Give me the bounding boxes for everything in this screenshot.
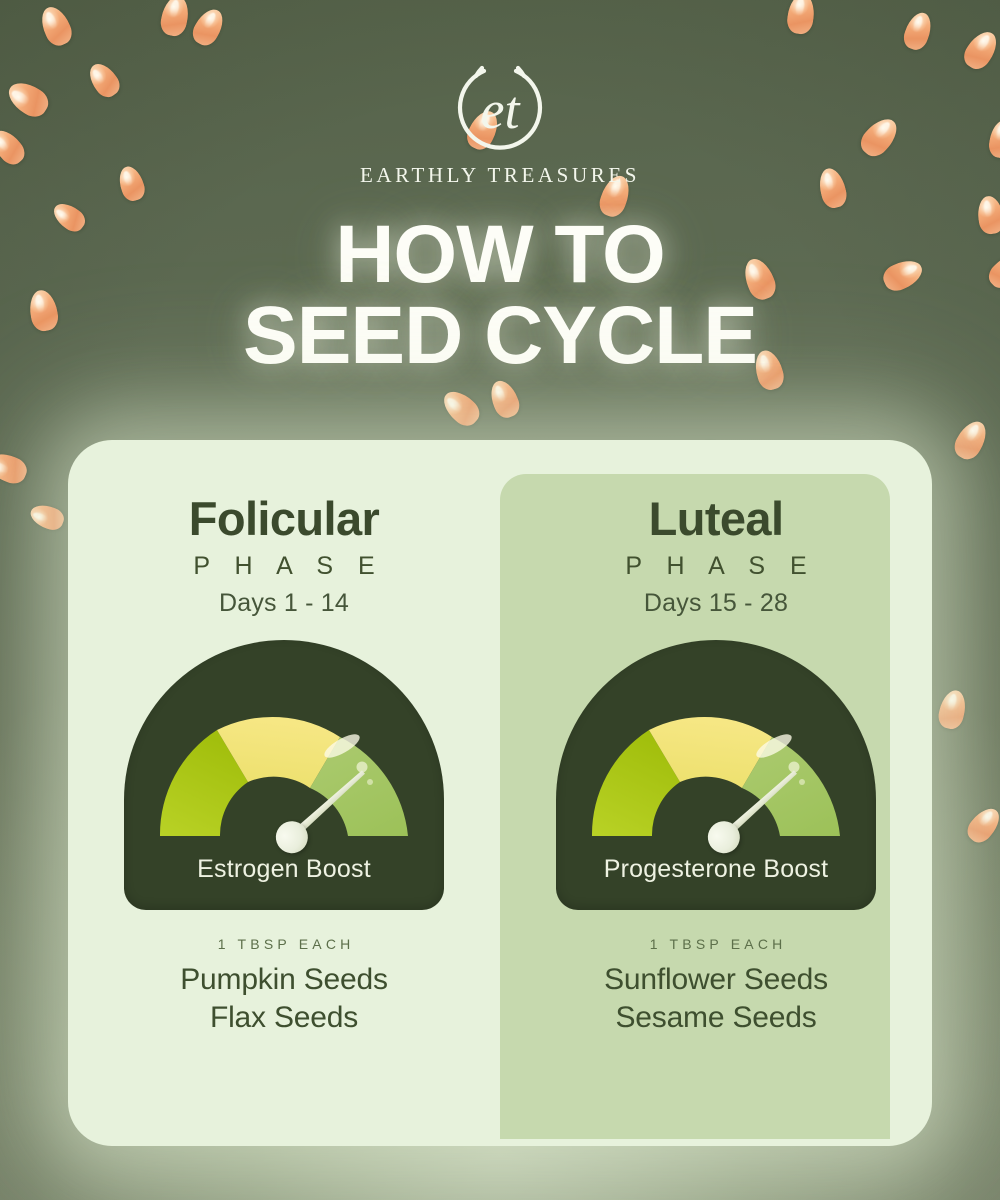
gauge-label: Progesterone Boost xyxy=(556,855,876,884)
seed-icon xyxy=(188,4,229,49)
phase-subtitle: P H A S E xyxy=(68,552,500,581)
svg-text:et: et xyxy=(481,80,522,140)
seed-icon xyxy=(437,385,484,431)
gauge-icon: Progesterone Boost xyxy=(556,640,876,910)
phase-days: Days 1 - 14 xyxy=(68,589,500,618)
phase-title: Luteal xyxy=(500,494,932,544)
brand-name: EARTHLY TREASURES xyxy=(0,163,1000,188)
phase-title: Folicular xyxy=(68,494,500,544)
phases-card: Folicular P H A S E Days 1 - 14 xyxy=(68,440,932,1146)
phase-subtitle: P H A S E xyxy=(500,552,932,581)
seed-icon xyxy=(158,0,192,38)
seed-icon xyxy=(963,803,1000,848)
phase-column-follicular[interactable]: Folicular P H A S E Days 1 - 14 xyxy=(68,440,500,1146)
brand-logo: et EARTHLY TREASURES xyxy=(0,64,1000,188)
infographic-page: et EARTHLY TREASURES HOW TO SEED CYCLE F… xyxy=(0,0,1000,1200)
seed-icon xyxy=(785,0,816,36)
seed-item: Sesame Seeds xyxy=(500,999,932,1037)
seed-icon xyxy=(950,416,993,464)
gauge-icon: Estrogen Boost xyxy=(124,640,444,910)
seed-icon xyxy=(936,688,970,732)
circle-monogram-logo: et xyxy=(446,64,554,150)
page-title-line-1: HOW TO xyxy=(335,209,665,300)
seed-item: Pumpkin Seeds xyxy=(68,961,500,999)
seed-icon xyxy=(27,501,66,533)
seed-list: Pumpkin Seeds Flax Seeds xyxy=(68,961,500,1038)
page-title: HOW TO SEED CYCLE xyxy=(0,214,1000,376)
dose-label: 1 TBSP EACH xyxy=(68,936,500,952)
seed-item: Flax Seeds xyxy=(68,999,500,1037)
seed-icon xyxy=(486,377,523,422)
seed-icon xyxy=(0,448,30,487)
dose-label: 1 TBSP EACH xyxy=(500,936,932,952)
gauge-label: Estrogen Boost xyxy=(124,855,444,884)
phase-days: Days 15 - 28 xyxy=(500,589,932,618)
seed-icon xyxy=(900,9,936,53)
seed-icon xyxy=(36,2,76,49)
seed-item: Sunflower Seeds xyxy=(500,961,932,999)
seed-list: Sunflower Seeds Sesame Seeds xyxy=(500,961,932,1038)
page-title-line-2: SEED CYCLE xyxy=(0,295,1000,376)
phase-column-luteal[interactable]: Luteal P H A S E Days 15 - 28 xyxy=(500,440,932,1146)
